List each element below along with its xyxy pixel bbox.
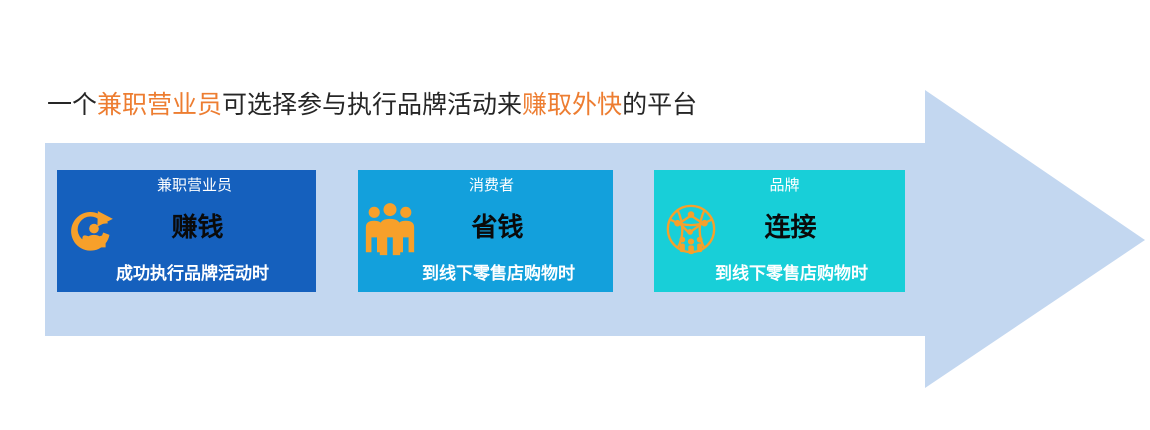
card-consumer[interactable]: 消费者 省钱 到线下零售店购物时 (358, 170, 613, 292)
card-main-label: 赚钱 (57, 210, 316, 244)
headline-accent-1: 兼职营业员 (97, 91, 222, 119)
mini-person-left-body (680, 243, 685, 252)
headline-accent-2: 赚取外快 (522, 91, 622, 119)
headline-part-3: 的平台 (622, 91, 697, 119)
card-main-label: 省钱 (358, 210, 613, 244)
card-header-label: 品牌 (654, 176, 905, 196)
card-header-label: 兼职营业员 (57, 176, 316, 196)
mini-person-center-body (688, 245, 694, 254)
headline-part-1: 一个 (47, 91, 97, 119)
card-header-label: 消费者 (358, 176, 613, 196)
card-part-time-clerk[interactable]: 兼职营业员 赚钱 成功执行品牌活动时 (57, 170, 316, 292)
slide-canvas: 一个兼职营业员可选择参与执行品牌活动来赚取外快的平台 兼职营业员 赚钱 成功执行… (0, 0, 1150, 430)
page-title: 一个兼职营业员可选择参与执行品牌活动来赚取外快的平台 (47, 88, 697, 122)
card-brand[interactable]: 品牌 连接 到线下零售店购物时 (654, 170, 905, 292)
card-footer-label: 到线下零售店购物时 (654, 262, 905, 286)
card-footer-label: 成功执行品牌活动时 (57, 262, 316, 286)
card-main-label: 连接 (654, 210, 905, 244)
card-footer-label: 到线下零售店购物时 (358, 262, 613, 286)
headline-part-2: 可选择参与执行品牌活动来 (222, 91, 522, 119)
mini-person-right-body (697, 243, 702, 252)
